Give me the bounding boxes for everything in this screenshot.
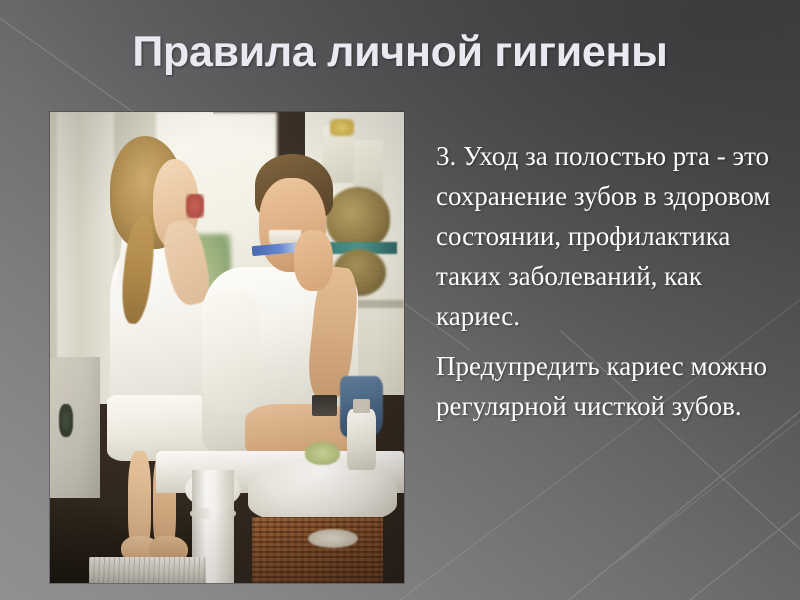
slide-body-text: 3. Уход за полостью рта - это сохранение… [436,136,772,432]
page-title: Правила личной гигиены [0,28,800,77]
presentation-slide: Правила личной гигиены [0,0,800,600]
body-paragraph-1: 3. Уход за полостью рта - это сохранение… [436,136,772,336]
body-paragraph-2: Предупредить кариес можно регулярной чис… [436,346,772,426]
slide-photo [50,112,404,583]
photo-vignette [50,112,404,583]
